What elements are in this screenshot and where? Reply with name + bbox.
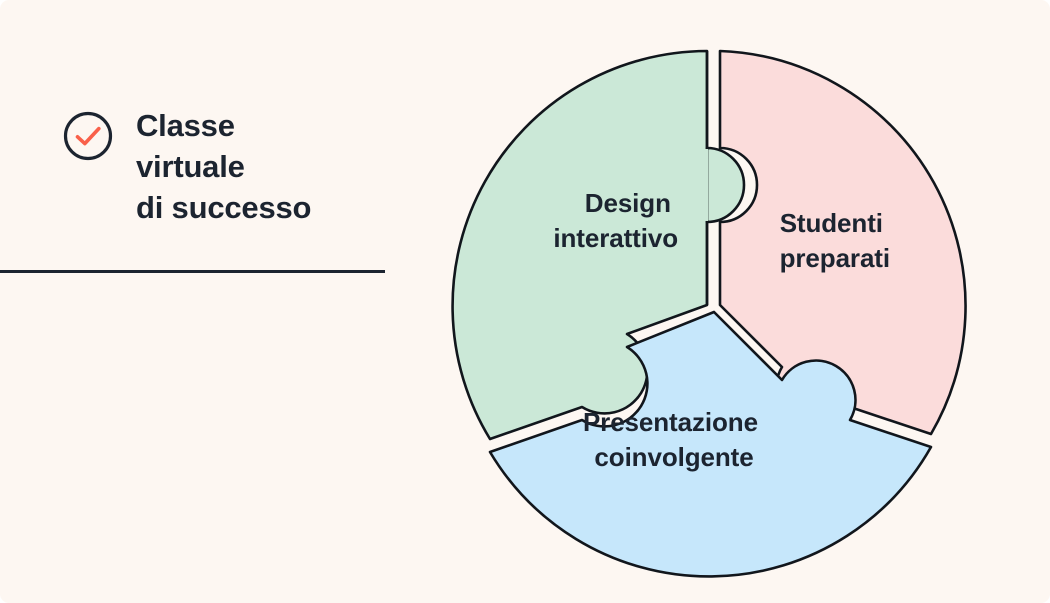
title-divider — [0, 270, 385, 273]
puzzle-diagram: Design interattivo Studenti preparati Pr… — [430, 20, 1000, 590]
heading-block: Classe virtuale di successo — [62, 106, 311, 229]
piece-design-seam — [700, 149, 708, 221]
left-panel: Classe virtuale di successo — [0, 0, 430, 603]
piece-studenti-label-line2: preparati — [780, 243, 890, 273]
puzzle-svg: Design interattivo Studenti preparati Pr… — [430, 20, 1000, 590]
check-circle-icon — [62, 110, 114, 162]
infographic-card: Classe virtuale di successo Design inter… — [0, 0, 1050, 603]
piece-design-tab — [707, 148, 744, 222]
piece-presentazione-label-line1: Presentazione — [583, 407, 758, 437]
page-title: Classe virtuale di successo — [136, 106, 311, 229]
piece-design-label-line2: interattivo — [553, 223, 678, 253]
piece-studenti-label-line1: Studenti — [780, 208, 883, 238]
piece-presentazione-label-line2: coinvolgente — [594, 442, 753, 472]
piece-design-label-line1: Design — [585, 188, 671, 218]
